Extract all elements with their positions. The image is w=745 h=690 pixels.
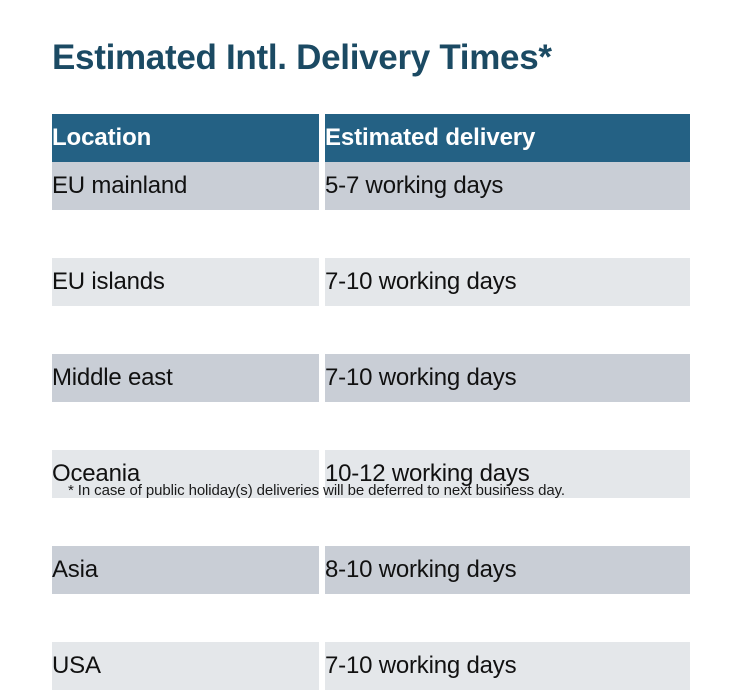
cell-location: USA <box>52 642 319 690</box>
table-row: Middle east 7-10 working days <box>52 354 690 402</box>
row-divider <box>52 594 690 642</box>
row-divider-left <box>52 402 319 450</box>
row-divider-right <box>325 402 690 450</box>
row-divider-left <box>52 594 319 642</box>
row-divider <box>52 498 690 546</box>
column-header-estimated-delivery: Estimated delivery <box>325 114 690 162</box>
table-row: USA 7-10 working days <box>52 642 690 690</box>
cell-location: EU islands <box>52 258 319 306</box>
row-divider-right <box>325 594 690 642</box>
row-divider-right <box>325 210 690 258</box>
table-header-row: Location Estimated delivery <box>52 114 690 162</box>
cell-location: Asia <box>52 546 319 594</box>
row-divider <box>52 306 690 354</box>
page-title: Estimated Intl. Delivery Times* <box>52 36 552 80</box>
cell-delivery: 7-10 working days <box>325 642 690 690</box>
row-divider <box>52 210 690 258</box>
cell-delivery: 5-7 working days <box>325 162 690 210</box>
estimated-delivery-times-table: Location Estimated delivery EU mainland … <box>52 114 690 690</box>
row-divider-right <box>325 306 690 354</box>
table-footnote: * In case of public holiday(s) deliverie… <box>68 481 565 501</box>
cell-location: EU mainland <box>52 162 319 210</box>
row-divider-left <box>52 498 319 546</box>
row-divider-left <box>52 210 319 258</box>
cell-location: Middle east <box>52 354 319 402</box>
table-row: Asia 8-10 working days <box>52 546 690 594</box>
row-divider-right <box>325 498 690 546</box>
row-divider <box>52 402 690 450</box>
cell-delivery: 7-10 working days <box>325 258 690 306</box>
cell-delivery: 8-10 working days <box>325 546 690 594</box>
column-header-location: Location <box>52 114 319 162</box>
delivery-times-page: Estimated Intl. Delivery Times* Location… <box>0 0 745 536</box>
row-divider-left <box>52 306 319 354</box>
table-row: EU mainland 5-7 working days <box>52 162 690 210</box>
table-row: EU islands 7-10 working days <box>52 258 690 306</box>
table-body: EU mainland 5-7 working days EU islands … <box>52 162 690 690</box>
table-header: Location Estimated delivery <box>52 114 690 162</box>
cell-delivery: 7-10 working days <box>325 354 690 402</box>
